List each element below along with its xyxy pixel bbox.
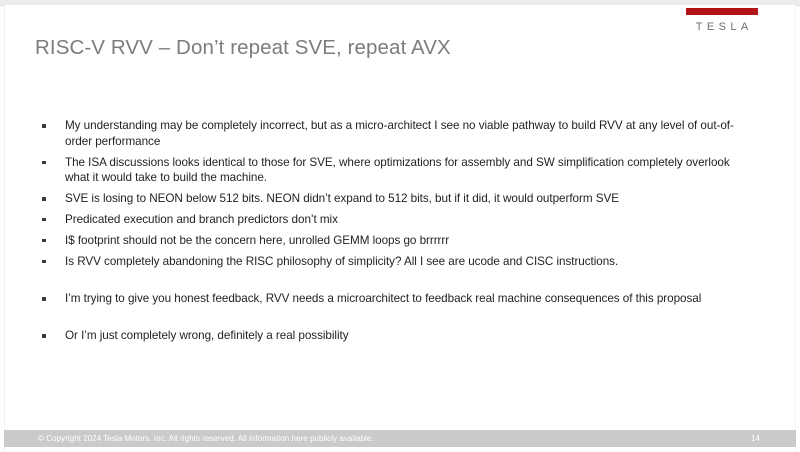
bullet-item: I$ footprint should not be the concern h… bbox=[35, 233, 735, 249]
bullet-square-icon bbox=[42, 334, 46, 338]
slide: TESLA RISC-V RVV – Don’t repeat SVE, rep… bbox=[0, 0, 800, 452]
bullet-square-icon bbox=[42, 124, 46, 128]
tesla-red-bar-icon bbox=[686, 8, 758, 15]
slide-canvas: TESLA RISC-V RVV – Don’t repeat SVE, rep… bbox=[4, 5, 796, 452]
bullet-text: The ISA discussions looks identical to t… bbox=[65, 156, 730, 185]
tesla-wordmark: TESLA bbox=[684, 22, 760, 33]
bullet-item: SVE is losing to NEON below 512 bits. NE… bbox=[35, 191, 735, 207]
tesla-logo: TESLA bbox=[684, 8, 760, 33]
page-number: 14 bbox=[751, 434, 760, 443]
bullet-text: SVE is losing to NEON below 512 bits. NE… bbox=[65, 192, 619, 205]
bullet-item: The ISA discussions looks identical to t… bbox=[35, 155, 735, 187]
bullet-text: I$ footprint should not be the concern h… bbox=[65, 234, 449, 247]
copyright-text: © Copyright 2024 Tesla Motors, Inc. All … bbox=[38, 434, 374, 443]
bullet-item: I’m trying to give you honest feedback, … bbox=[35, 291, 735, 307]
bullet-text: I’m trying to give you honest feedback, … bbox=[65, 292, 701, 305]
bullet-text: Or I’m just completely wrong, definitely… bbox=[65, 329, 349, 342]
slide-footer: © Copyright 2024 Tesla Motors, Inc. All … bbox=[4, 430, 796, 447]
bullet-item: Or I’m just completely wrong, definitely… bbox=[35, 328, 735, 344]
bullet-square-icon bbox=[42, 297, 46, 301]
slide-body: My understanding may be completely incor… bbox=[35, 118, 735, 349]
bullet-item: Is RVV completely abandoning the RISC ph… bbox=[35, 254, 735, 270]
bullet-text: My understanding may be completely incor… bbox=[65, 119, 734, 148]
bullet-square-icon bbox=[42, 197, 46, 201]
bullet-square-icon bbox=[42, 260, 46, 264]
bullet-text: Is RVV completely abandoning the RISC ph… bbox=[65, 255, 618, 268]
slide-title: RISC-V RVV – Don’t repeat SVE, repeat AV… bbox=[35, 35, 451, 61]
bullet-square-icon bbox=[42, 161, 46, 165]
bullet-text: Predicated execution and branch predicto… bbox=[65, 213, 338, 226]
bullet-square-icon bbox=[42, 239, 46, 243]
bullet-item: Predicated execution and branch predicto… bbox=[35, 212, 735, 228]
bullet-item: My understanding may be completely incor… bbox=[35, 118, 735, 150]
bullet-square-icon bbox=[42, 218, 46, 222]
